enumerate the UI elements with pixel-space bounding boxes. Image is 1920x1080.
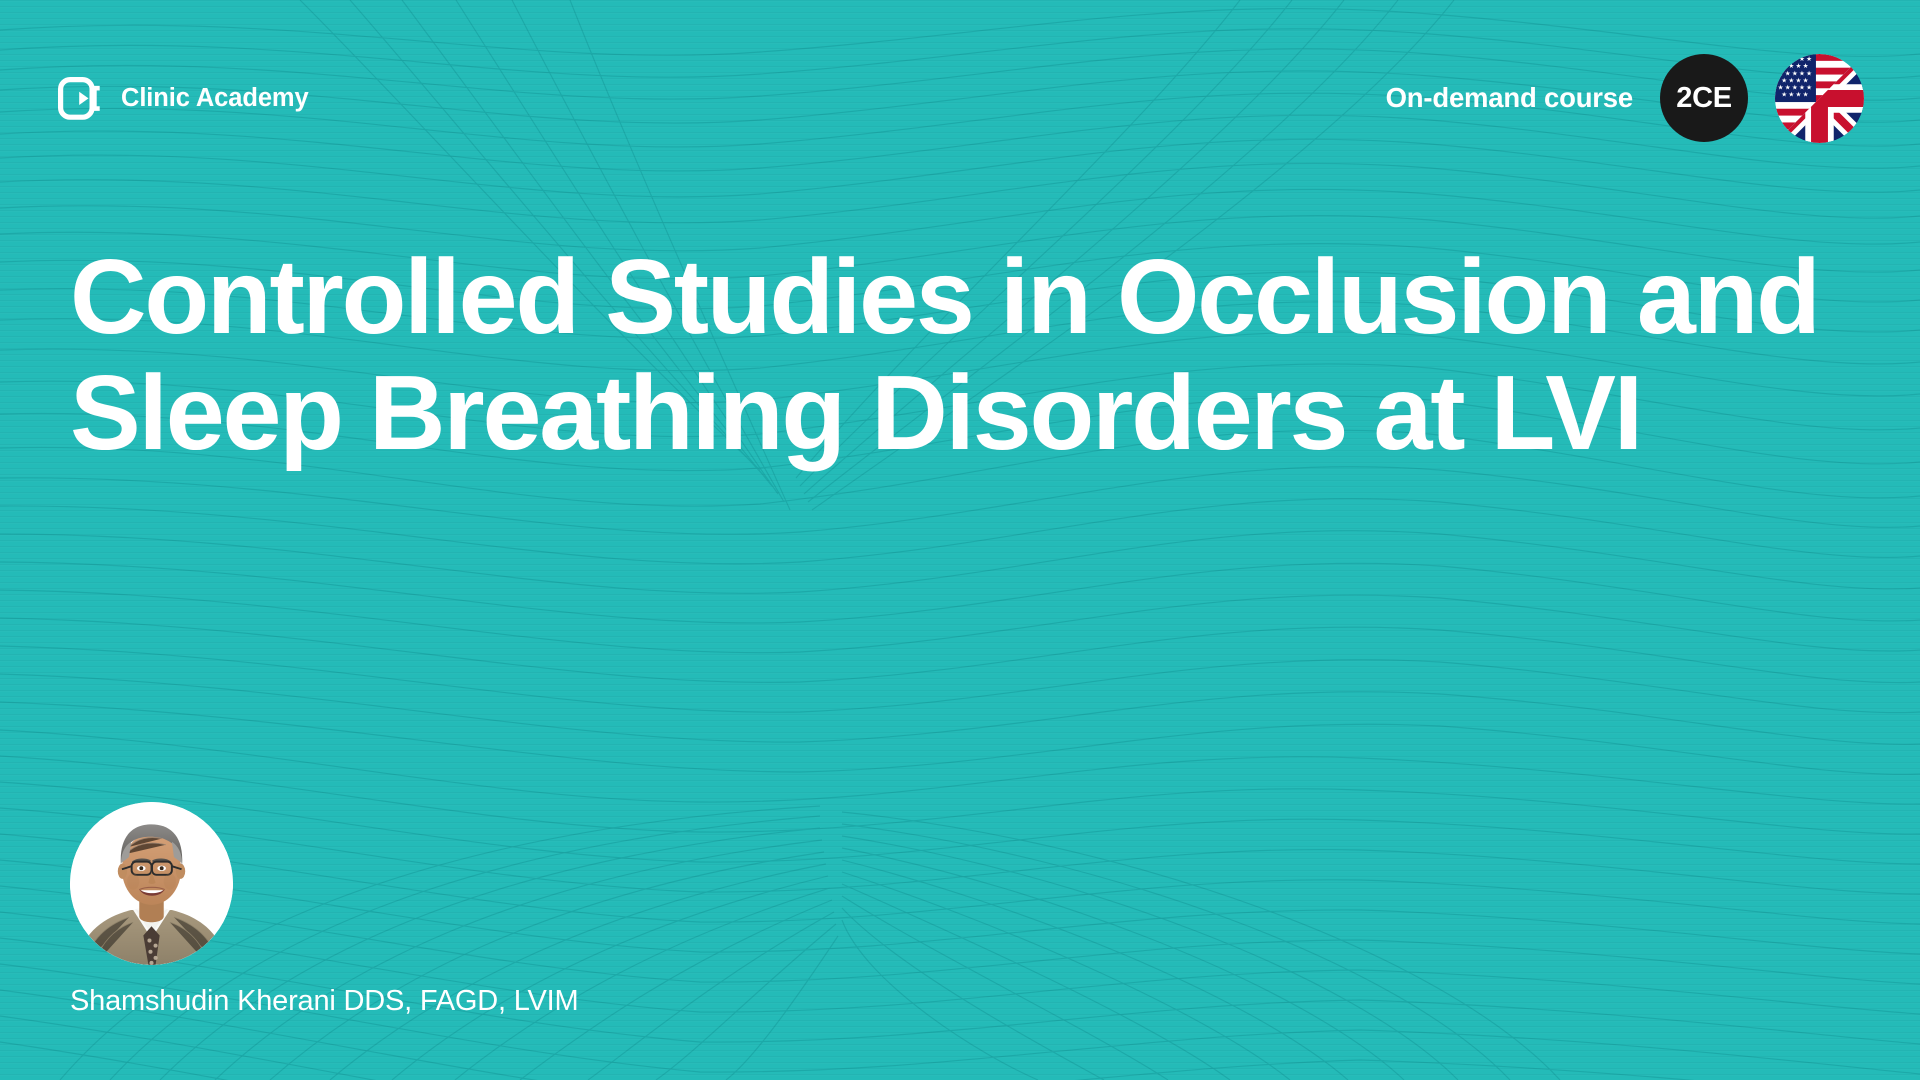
- avatar: [70, 802, 233, 965]
- header-meta: On-demand course 2CE: [1386, 54, 1864, 143]
- presenter-block: Shamshudin Kherani DDS, FAGD, LVIM: [70, 802, 578, 1018]
- course-cover-slide: Clinic Academy On-demand course 2CE: [0, 0, 1920, 1080]
- video-play-icon: [58, 77, 105, 120]
- svg-text:★: ★: [1788, 90, 1794, 98]
- presenter-name: Shamshudin Kherani DDS, FAGD, LVIM: [70, 985, 578, 1018]
- course-title: Controlled Studies in Occlusion and Slee…: [70, 240, 1870, 471]
- ce-credits-badge: 2CE: [1660, 54, 1748, 142]
- svg-text:★: ★: [1785, 55, 1791, 63]
- brand-logo[interactable]: Clinic Academy: [58, 77, 309, 120]
- slide-header: Clinic Academy On-demand course 2CE: [0, 0, 1920, 196]
- us-uk-flag-icon: ★★★ ★★ ★★★ ★ ★★★ ★★ ★★★ ★ ★★★ ★★ ★★★ ★: [1775, 54, 1864, 143]
- svg-text:★: ★: [1778, 55, 1784, 63]
- svg-text:★: ★: [1781, 90, 1787, 98]
- svg-text:★: ★: [1795, 90, 1801, 98]
- svg-text:★: ★: [1803, 90, 1809, 98]
- brand-name: Clinic Academy: [121, 84, 309, 113]
- course-type-label: On-demand course: [1386, 82, 1633, 114]
- ce-credits-label: 2CE: [1676, 82, 1732, 115]
- title-block: Controlled Studies in Occlusion and Slee…: [70, 240, 1870, 471]
